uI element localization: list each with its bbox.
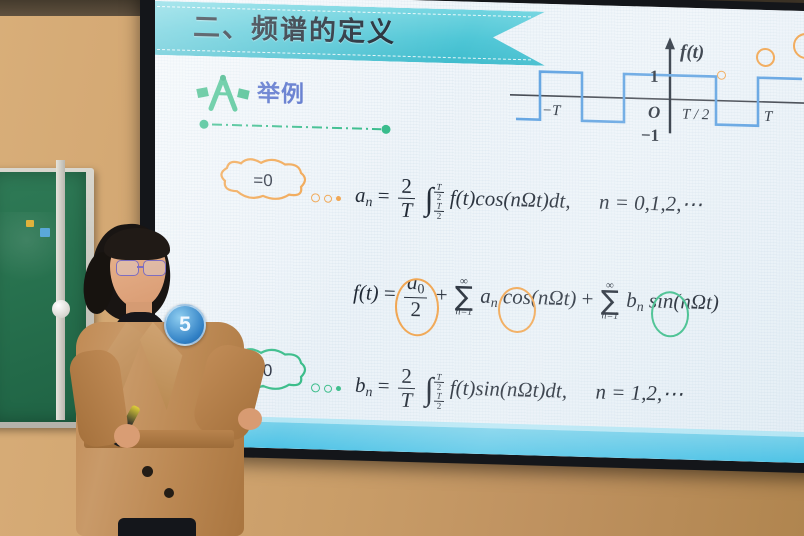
svg-text:f(t): f(t) [680, 42, 704, 64]
cloud-bubble-an: =0 [217, 157, 309, 206]
svg-text:−1: −1 [641, 125, 659, 145]
formula-bn-integral: ∫ T 2 T 2 [425, 372, 444, 407]
sigma-icon-2: ∑ [601, 292, 619, 313]
formula-bn-fraction: 2 T [398, 366, 416, 411]
formula-bn-frac-den: T [398, 389, 416, 411]
formula-bn-integrand: f(t)sin(nΩt)dt, [450, 375, 567, 402]
fourier-eq: = [384, 281, 396, 305]
svg-text:T / 2: T / 2 [682, 107, 710, 124]
fourier-bn-sub: n [637, 299, 644, 314]
screenshot-stage: 二、频谱的定义 举例 [0, 0, 804, 536]
example-heading-group: 举例 [195, 72, 410, 136]
formula-bn: bn = 2 T ∫ T 2 T 2 [355, 364, 683, 418]
integral-lower-limit-2: T 2 [434, 391, 443, 410]
formula-an-frac-num: 2 [398, 176, 415, 199]
formula-an-fraction: 2 T [398, 176, 416, 221]
svg-text:1: 1 [650, 67, 658, 86]
presenter-badge: 5 [164, 304, 206, 346]
square-wave-chart: f(t) 1 −1 −T O T / 2 T [510, 27, 804, 157]
highlight-ring-bn [651, 291, 689, 338]
coat-button-2 [164, 488, 174, 498]
fourier-an-sub: n [491, 295, 498, 310]
coat-button-1 [142, 466, 153, 477]
hand-right [238, 408, 262, 430]
fourier-sum-2: ∞ ∑ n=1 [601, 281, 619, 323]
formula-an-integral-limits: T 2 T 2 [434, 182, 443, 216]
formula-bn-range: n = 1,2,⋯ [596, 380, 684, 406]
svg-text:−T: −T [542, 103, 562, 120]
chalkboard-knob [52, 300, 70, 318]
svg-text:T: T [764, 109, 774, 125]
bubble-medium-icon [756, 48, 775, 68]
formula-bn-lhs: b [355, 373, 366, 397]
fourier-plus-2: + [582, 286, 594, 310]
formula-an-eq: = [378, 183, 390, 207]
svg-text:O: O [648, 103, 660, 122]
sum1-lower: n=1 [456, 308, 473, 318]
chalkboard-clip-yellow [26, 220, 34, 227]
example-underline [199, 116, 391, 131]
slide-title: 二、频谱的定义 [193, 5, 396, 50]
integral-sign-icon: ∫ [425, 186, 434, 212]
formula-an-range: n = 0,1,2,⋯ [599, 190, 702, 217]
legs [118, 518, 196, 536]
formula-an-lhs-sub: n [366, 194, 373, 209]
sum2-lower: n=1 [601, 312, 618, 322]
integral-lower-limit: T 2 [434, 201, 443, 220]
formula-bn-frac-num: 2 [398, 366, 415, 389]
integral-upper-limit: T 2 [434, 182, 443, 201]
formula-bn-lhs-sub: n [366, 384, 373, 399]
presenter: 5 [78, 218, 243, 536]
integral-sign-icon-2: ∫ [425, 376, 434, 402]
highlight-ring-an [498, 286, 536, 333]
trailing-dots-an [311, 193, 341, 203]
chalkboard-clip-blue [40, 228, 50, 237]
bubble-small-icon [717, 71, 726, 80]
hand-left [114, 424, 140, 448]
formula-an-frac-den: T [398, 199, 416, 221]
glasses-icon [116, 260, 166, 274]
trailing-dots-bn [311, 383, 341, 393]
fourier-lhs: f(t) [353, 280, 379, 305]
fourier-bn-term: b [626, 288, 637, 312]
glasses-lens-left [116, 260, 139, 276]
formula-bn-integral-limits: T 2 T 2 [434, 372, 443, 406]
formula-an-integrand: f(t)cos(nΩt)dt, [450, 185, 571, 212]
chalkboard-stand [56, 160, 65, 420]
example-label: 举例 [257, 74, 305, 109]
bangs [104, 228, 170, 260]
integral-upper-limit-2: T 2 [434, 372, 443, 391]
formula-an-lhs: a [355, 183, 366, 207]
fourier-an-term: a [480, 284, 491, 308]
formula-an-integral: ∫ T 2 T 2 [425, 182, 444, 217]
formula-an: an = 2 T ∫ T 2 T 2 [355, 174, 702, 229]
cloud-text-an: =0 [217, 157, 309, 206]
formula-bn-eq: = [378, 373, 390, 397]
sigma-icon: ∑ [455, 288, 473, 309]
fourier-sum-1: ∞ ∑ n=1 [455, 277, 473, 319]
highlight-ring-a0 [395, 278, 439, 337]
compass-icon [195, 74, 251, 114]
glasses-lens-right [143, 260, 166, 276]
